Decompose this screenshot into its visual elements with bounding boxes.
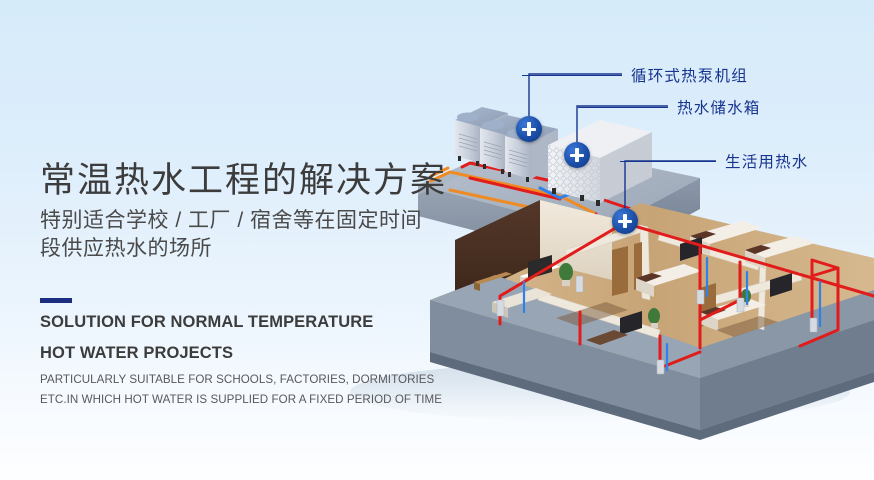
leader-line-icon (522, 75, 622, 76)
plus-marker-water-tank[interactable] (564, 142, 590, 168)
headline-text-block: 常温热水工程的解决方案 特别适合学校 / 工厂 / 宿舍等在固定时间段供应热水的… (40, 160, 460, 410)
english-heading-line2: HOT WATER PROJECTS (40, 343, 460, 365)
callout-label: 热水储水箱 (677, 96, 761, 118)
plus-marker-domestic-hot-water[interactable] (612, 208, 638, 234)
main-title-chinese: 常温热水工程的解决方案 (40, 160, 460, 201)
leader-line-icon (578, 107, 668, 108)
english-subtext-line2: ETC.IN WHICH HOT WATER IS SUPPLIED FOR A… (40, 390, 460, 409)
subtitle-chinese: 特别适合学校 / 工厂 / 宿舍等在固定时间段供应热水的场所 (40, 207, 425, 262)
callout-heat-pump-unit: 循环式热泵机组 (522, 64, 748, 86)
english-heading-line1: SOLUTION FOR NORMAL TEMPERATURE (40, 312, 460, 334)
callout-water-tank: 热水储水箱 (578, 96, 761, 118)
leader-line-icon (620, 161, 716, 162)
callout-label: 循环式热泵机组 (631, 64, 748, 86)
callout-domestic-hot-water: 生活用热水 (620, 150, 809, 172)
plus-marker-heat-pump[interactable] (516, 116, 542, 142)
callout-label: 生活用热水 (725, 150, 809, 172)
accent-divider-bar (40, 298, 72, 303)
banner-canvas: 循环式热泵机组 热水储水箱 生活用热水 常温热水工程的解决方案 特别适合学校 /… (0, 0, 874, 480)
english-subtext-line1: PARTICULARLY SUITABLE FOR SCHOOLS, FACTO… (40, 370, 460, 389)
